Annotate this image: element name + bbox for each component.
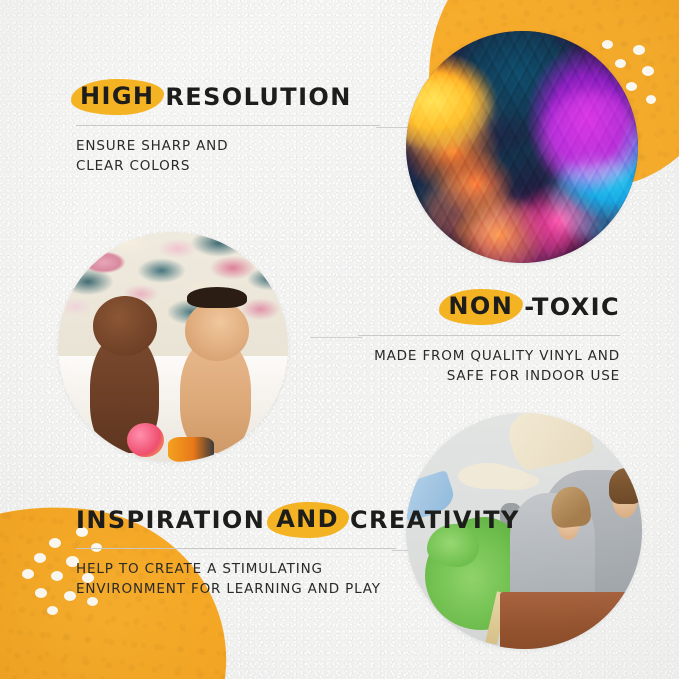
abstract-fluid-art-image — [406, 31, 638, 263]
wooden-desk — [500, 592, 642, 649]
divider-rule — [76, 548, 396, 549]
cloud-decal — [458, 463, 517, 489]
divider-rule — [358, 335, 620, 336]
feature-text-non-toxic: NON -TOXIC MADE FROM QUALITY VINYL AND S… — [358, 292, 620, 387]
feature-text-inspiration: INSPIRATION AND CREATIVITY HELP TO CREAT… — [76, 505, 396, 600]
babies-on-floral-bed-image — [58, 232, 288, 462]
feature-text-high-resolution: HIGH RESOLUTION ENSURE SHARP AND CLEAR C… — [76, 82, 376, 177]
heading-highlight-word: HIGH — [76, 82, 158, 111]
feature-heading-inspiration: INSPIRATION AND CREATIVITY — [76, 505, 396, 534]
baby-right-hair — [187, 287, 247, 308]
heading-rest: CREATIVITY — [350, 508, 520, 532]
pterodactyl-decal — [504, 413, 595, 473]
infographic-canvas: HIGH RESOLUTION ENSURE SHARP AND CLEAR C… — [0, 0, 679, 679]
baby-left-head — [93, 296, 157, 356]
heading-rest: -TOXIC — [524, 295, 620, 319]
heading-rest: RESOLUTION — [165, 85, 351, 109]
feature-heading-high-resolution: HIGH RESOLUTION — [76, 82, 376, 111]
toy-ball — [127, 423, 164, 458]
child-back-hair — [609, 468, 642, 504]
floral-wallpaper — [58, 232, 288, 370]
feature-heading-non-toxic: NON -TOXIC — [358, 292, 620, 321]
heading-before: INSPIRATION — [76, 508, 265, 532]
divider-rule — [76, 125, 380, 126]
feature-image-high-resolution — [406, 31, 638, 263]
feature-body-non-toxic: MADE FROM QUALITY VINYL AND SAFE FOR IND… — [358, 346, 620, 387]
toy-truck — [168, 437, 214, 462]
feature-image-non-toxic — [58, 232, 288, 462]
connector-line-nontoxic — [310, 337, 362, 338]
baby-right-head — [185, 301, 249, 361]
feature-body-inspiration: HELP TO CREATE A STIMULATING ENVIRONMENT… — [76, 559, 396, 600]
feature-body-high-resolution: ENSURE SHARP AND CLEAR COLORS — [76, 136, 376, 177]
heading-highlight-word: AND — [272, 505, 343, 534]
heading-highlight-word: NON — [444, 292, 517, 321]
